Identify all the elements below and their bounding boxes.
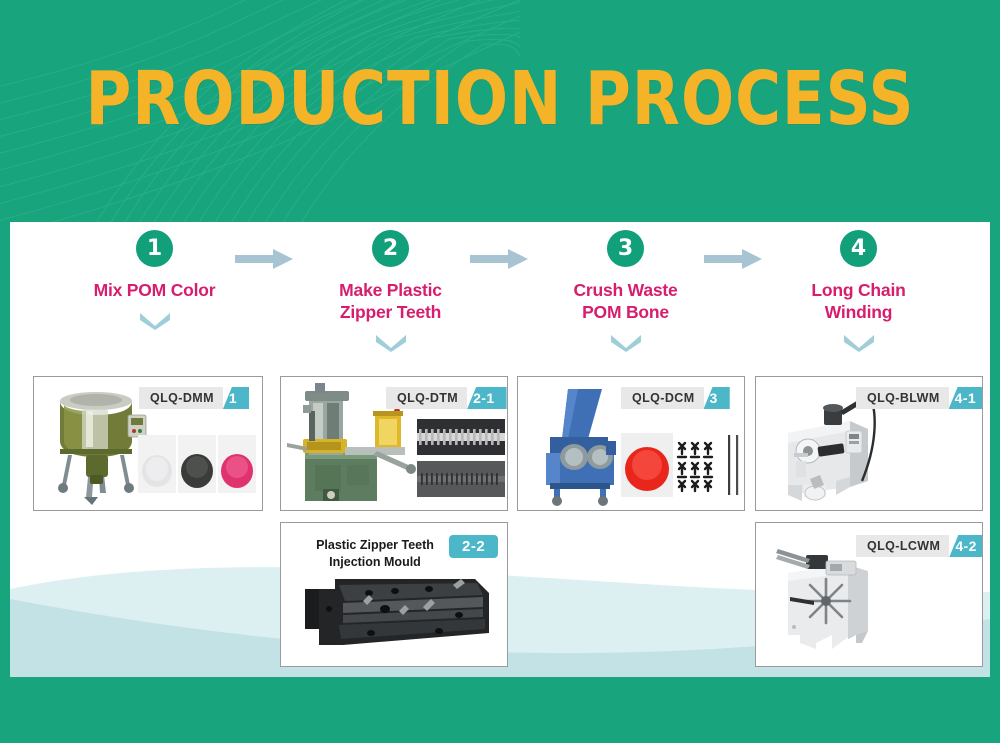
chevron-down-icon [374,332,408,352]
content-panel: 1 Mix POM Color 2 Make Plastic Zipper Te… [10,222,990,677]
product-card-4-2[interactable]: QLQ-LCWM 4-2 [755,522,983,667]
step-number-badge: 2 [372,230,409,267]
badge-card-2-1: QLQ-DTM 2-1 [386,387,507,409]
product-card-1[interactable]: QLQ-DMM 1 [33,376,263,511]
step-number-badge: 4 [840,230,877,267]
badge-step-number: 4-1 [949,387,983,409]
chevron-down-icon [138,310,172,330]
card-title-2-2: Plastic Zipper Teeth Injection Mould [305,537,445,571]
vertical-color-mixer-photo [42,385,150,505]
header-banner: PRODUCTION PROCESS [0,0,1000,222]
white-pom-pellets-photo [138,435,176,493]
product-card-2-1[interactable]: QLQ-DTM 2-1 [280,376,508,511]
badge-model-code: QLQ-DCM [621,387,704,409]
pom-bone-runners-photo [675,433,721,497]
badge-card-2-2: 2-2 [449,535,498,558]
zipper-tape-strip-photo-2 [417,461,505,497]
zipper-long-chain-photo [723,433,743,497]
black-pom-pellets-photo [178,435,216,493]
badge-model-code: QLQ-BLWM [856,387,949,409]
product-card-3[interactable]: QLQ-DCM 3 [517,376,745,511]
badge-model-code: QLQ-LCWM [856,535,949,557]
injection-mould-plate-photo [299,571,495,655]
step-label: Crush Waste POM Bone [508,280,743,324]
step-label: Make Plastic Zipper Teeth [273,280,508,324]
badge-model-code: QLQ-DTM [386,387,467,409]
production-process-infographic: PRODUCTION PROCESS 1 Mix POM Color 2 Mak… [0,0,1000,743]
red-crushed-pellets-photo [621,433,673,497]
step-number-badge: 3 [607,230,644,267]
page-title: PRODUCTION PROCESS [30,62,970,136]
flow-step-1[interactable]: 1 Mix POM Color [37,230,272,335]
product-card-4-1[interactable]: QLQ-BLWM 4-1 [755,376,983,511]
badge-model-code: QLQ-DMM [139,387,223,409]
badge-card-4-1: QLQ-BLWM 4-1 [856,387,983,409]
product-card-2-2[interactable]: Plastic Zipper Teeth Injection Mould 2-2 [280,522,508,667]
step-number-badge: 1 [136,230,173,267]
zipper-tape-strip-photo-1 [417,419,505,455]
step-label: Mix POM Color [37,280,272,302]
badge-step-number: 2-1 [467,387,506,409]
chevron-down-icon [842,332,876,352]
pink-pom-pellets-photo [218,435,256,493]
badge-step-number: 1 [223,387,249,409]
flow-step-4[interactable]: 4 Long Chain Winding [741,230,976,357]
badge-step-number: 3 [704,387,730,409]
badge-card-3: QLQ-DCM 3 [621,387,730,409]
badge-card-1: QLQ-DMM 1 [139,387,249,409]
chevron-down-icon [609,332,643,352]
step-label: Long Chain Winding [741,280,976,324]
badge-step-number: 4-2 [949,535,983,557]
badge-card-4-2: QLQ-LCWM 4-2 [856,535,983,557]
